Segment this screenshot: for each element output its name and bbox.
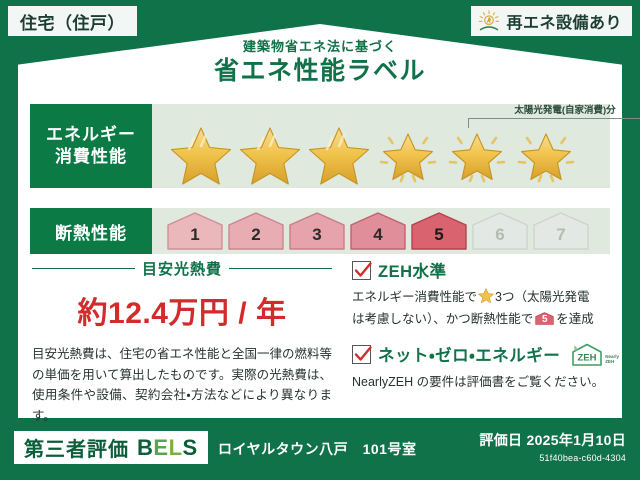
evaluation-id: 51f40bea-c60d-4304 [479,453,626,463]
net-zero-energy-heading: ネット・ゼロ・エネルギー ZEH Nearly ZEH [352,342,610,367]
label-footer: 第三者評価 BELS ロイヤルタウン八戸 101号室 評価日 2025年1月10… [0,422,640,480]
zeh-logo-subtext: Nearly ZEH [605,354,619,366]
zeh-standard-desc-part1: エネルギー消費性能で [352,290,477,304]
bels-third-party-label: 第三者評価 [24,433,129,462]
net-zero-energy-block: ネット・ゼロ・エネルギー ZEH Nearly ZEH NearlyZEH の要… [352,342,610,392]
insulation-level-track: 1 2 3 4 5 [152,208,610,254]
label-title-block: 建築物省エネ法に基づく 省エネ性能ラベル [0,40,640,84]
star-filled-3 [304,124,373,186]
star-solar-4 [373,124,442,186]
estimated-utility-cost-value: 約12.4万円 / 年 [32,288,332,332]
inline-star-icon [478,292,494,306]
insulation-level-7-value: 7 [556,225,565,250]
heading-rule-left [32,268,135,270]
zeh-standard-desc-stars: 3つ（太陽光発電 [495,290,589,304]
renewable-equipment-badge: 再エネ設備あり [471,6,632,36]
estimated-utility-cost-note: 目安光熱費は、住宅の省エネ性能と全国一律の燃料等の単価を用いて算出したものです。… [32,344,332,427]
energy-star-track: 太陽光発電(自家消費)分 [152,104,610,188]
insulation-performance-row: 断熱性能 1 2 3 4 [30,208,610,254]
zeh-standard-desc-part3: を達成 [556,312,594,326]
insulation-level-1-value: 1 [190,225,199,250]
insulation-level-2-value: 2 [251,225,260,250]
sun-solar-icon [477,10,501,32]
insulation-level-6-value: 6 [495,225,504,250]
energy-performance-label-box: エネルギー 消費性能 [30,104,152,188]
insulation-level-5-achieved: 5 [410,212,468,250]
energy-performance-label: 住宅（住戸） 再エネ設備あり 建築物省エネ法に基づく [0,0,640,480]
bels-letter-s: S [183,435,198,460]
net-zero-energy-description: NearlyZEH の要件は評価書をご覧ください。 [352,372,610,392]
net-zero-energy-checkbox[interactable] [352,345,371,364]
star-solar-5 [442,124,511,186]
insulation-level-6-inactive: 6 [471,212,529,250]
bels-letter-l: L [169,435,183,460]
energy-performance-row: エネルギー 消費性能 太陽光発電(自家消費)分 [30,104,610,188]
building-type-label: 住宅（住戸） [20,9,125,34]
inline-house-level-value: 5 [535,312,554,328]
zeh-logo-badge: ZEH Nearly ZEH [570,342,619,367]
zeh-standard-checkbox[interactable] [352,261,371,280]
property-address: ロイヤルタウン八戸 101号室 [218,439,416,459]
solar-generation-annotation: 太陽光発電(自家消費)分 [464,104,640,126]
solar-generation-annotation-label: 太陽光発電(自家消費)分 [464,102,640,116]
star-filled-1 [166,124,235,186]
zeh-standard-description: エネルギー消費性能で3つ（太陽光発電は考慮しない）、かつ断熱性能で5を達成 [352,287,610,330]
net-zero-energy-title: ネット・ゼロ・エネルギー [378,342,560,366]
estimated-utility-cost-section: 目安光熱費 約12.4万円 / 年 目安光熱費は、住宅の省エネ性能と全国一律の燃… [32,258,332,427]
insulation-level-1: 1 [166,212,224,250]
svg-text:ZEH: ZEH [578,352,597,363]
label-title-main: 省エネ性能ラベル [0,59,640,84]
insulation-level-5-value: 5 [434,225,443,250]
evaluation-date: 評価日 2025年1月10日 [479,430,626,450]
insulation-level-7-inactive: 7 [532,212,590,250]
label-title-sub: 建築物省エネ法に基づく [0,40,640,53]
energy-label-line2: 消費性能 [55,146,127,168]
insulation-level-3: 3 [288,212,346,250]
insulation-label: 断熱性能 [55,219,127,244]
insulation-level-scale: 1 2 3 4 5 [166,208,604,254]
energy-star-rating [166,124,604,186]
zeh-section: ZEH水準 エネルギー消費性能で3つ（太陽光発電は考慮しない）、かつ断熱性能で5… [352,258,610,404]
zeh-standard-block: ZEH水準 エネルギー消費性能で3つ（太陽光発電は考慮しない）、かつ断熱性能で5… [352,258,610,330]
star-filled-2 [235,124,304,186]
footer-meta: 評価日 2025年1月10日 51f40bea-c60d-4304 [479,430,626,463]
insulation-level-3-value: 3 [312,225,321,250]
insulation-level-2: 2 [227,212,285,250]
star-solar-6 [511,124,580,186]
bels-letter-e: E [153,435,168,460]
heading-rule-right [229,268,332,270]
bels-logo-plate: 第三者評価 BELS [14,431,208,464]
building-type-badge: 住宅（住戸） [8,6,137,36]
inline-house-level-icon: 5 [535,311,554,326]
insulation-level-4-value: 4 [373,225,382,250]
bels-wordmark: BELS [137,435,198,461]
energy-label-line1: エネルギー [46,124,136,146]
insulation-level-4: 4 [349,212,407,250]
bels-letter-b: B [137,435,153,460]
zeh-standard-desc-part2: は考慮しない）、かつ断熱性能で [352,312,533,326]
estimated-utility-cost-heading-text: 目安光熱費 [142,258,222,279]
estimated-utility-cost-heading: 目安光熱費 [32,258,332,279]
renewable-equipment-label: 再エネ設備あり [506,9,622,33]
insulation-performance-label-box: 断熱性能 [30,208,152,254]
zeh-standard-heading: ZEH水準 [352,258,610,282]
zeh-standard-title: ZEH水準 [378,258,447,282]
zeh-logo-sub-line2: ZEH [605,359,614,364]
